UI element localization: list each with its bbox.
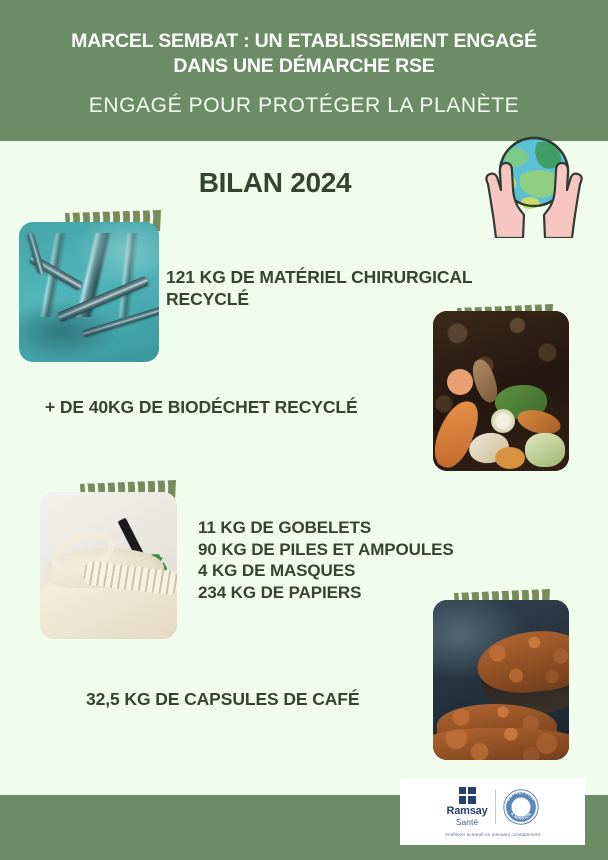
ramsay-brand-name: Ramsay [447,806,488,817]
hands-holding-earth-icon [476,128,592,238]
entreprise-a-mission-badge-icon: ENTREPRISE À MISSION [503,789,539,825]
logo-divider [495,790,496,824]
ramsay-logo: Ramsay Santé [447,787,488,827]
page-title-line2: DANS UNE DÉMARCHE RSE [24,54,584,79]
surgical-instruments-photo [19,222,159,362]
logo-tagline: Améliorer la santé en innovant constamme… [445,831,540,836]
stat-surgical-line1: 121 KG DE MATÉRIEL CHIRURGICAL [166,266,566,288]
page-subtitle: ENGAGÉ POUR PROTÉGER LA PLANÈTE [24,94,584,118]
ramsay-brand-sub: Santé [456,817,478,827]
stat-coffee-line1: 32,5 KG DE CAPSULES DE CAFÉ [86,689,486,710]
ramsay-squares-icon [459,787,476,804]
page-title-line1: MARCEL SEMBAT : UN ETABLISSEMENT ENGAGÉ [24,29,584,54]
stat-recyclables-line2: 90 KG DE PILES ET AMPOULES [198,539,528,561]
stat-recyclables-line1: 11 KG DE GOBELETS [198,517,528,539]
poster: MARCEL SEMBAT : UN ETABLISSEMENT ENGAGÉ … [0,0,608,860]
coffee-grounds-photo [433,600,569,760]
stat-biowaste: + DE 40KG DE BIODÉCHET RECYCLÉ [45,397,465,418]
page-title: MARCEL SEMBAT : UN ETABLISSEMENT ENGAGÉ … [24,29,584,79]
ramsay-sante-logo-card: Ramsay Santé ENTREPRISE À MISSION [400,778,585,845]
stat-biowaste-line1: + DE 40KG DE BIODÉCHET RECYCLÉ [45,397,465,418]
compost-biowaste-photo [433,311,569,471]
bilan-title: BILAN 2024 [150,167,400,199]
stat-recyclables-line3: 4 KG DE MASQUES [198,560,528,582]
logo-row: Ramsay Santé ENTREPRISE À MISSION [447,787,539,827]
reusable-tote-bag-photo: ♻ [40,492,177,639]
stat-coffee: 32,5 KG DE CAPSULES DE CAFÉ [86,689,486,710]
